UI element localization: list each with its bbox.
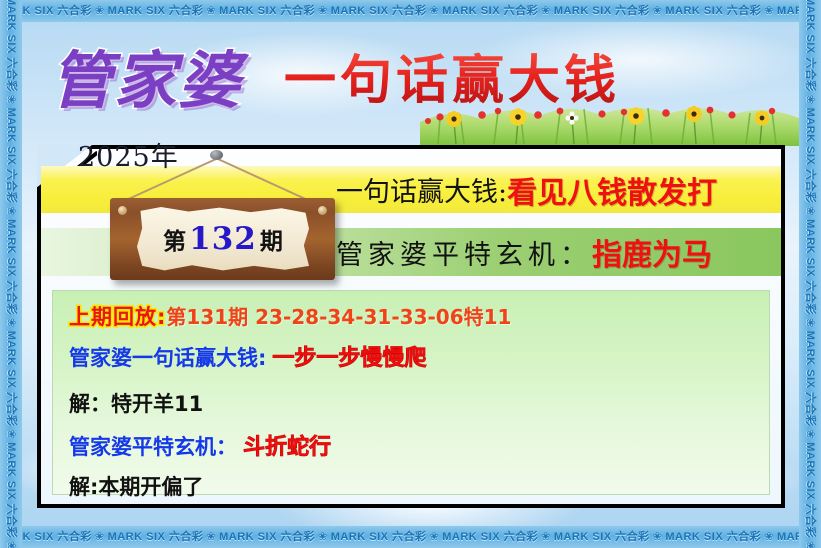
content-label-3: 解:本期开偏了 [69,471,203,501]
paper-label: 第132期 [137,207,309,271]
content-label-0: 管家婆一句话赢大钱: [69,342,266,372]
flower-grass-decoration [420,88,799,146]
content-box: 上期回放: 第131期 23-28-34-31-33-06特11 管家婆一句话赢… [52,290,770,495]
issue-plaque: 第132期 [100,150,350,290]
border-top: MARK SIX 六合彩❀MARK SIX 六合彩❀MARK SIX 六合彩❀M… [0,0,821,22]
border-right: MARK SIX 六合彩❀MARK SIX 六合彩❀MARK SIX 六合彩❀M… [799,0,821,548]
wooden-board: 第132期 [110,198,335,280]
border-strip-bottom: MARK SIX 六合彩❀MARK SIX 六合彩❀MARK SIX 六合彩❀M… [0,526,821,548]
border-strip-left: MARK SIX 六合彩❀MARK SIX 六合彩❀MARK SIX 六合彩❀M… [0,0,22,548]
border-strip-right: MARK SIX 六合彩❀MARK SIX 六合彩❀MARK SIX 六合彩❀M… [799,0,821,548]
replay-value: 第131期 23-28-34-31-33-06特11 [166,301,511,330]
replay-row: 上期回放: 第131期 23-28-34-31-33-06特11 [69,301,769,331]
issue-number: 132 [186,221,260,257]
content-label-1: 解：特开羊11 [69,388,203,418]
band-answer-0: 看见八钱散发打 [507,168,717,212]
border-left: MARK SIX 六合彩❀MARK SIX 六合彩❀MARK SIX 六合彩❀M… [0,0,22,548]
page-root: 管家婆 一句话赢大钱 2025年 第132期 一句话赢大钱: 看见八钱散发打 管… [0,0,821,548]
nail-icon [210,150,223,160]
content-row-2: 管家婆平特玄机： 斗折蛇行 [69,429,769,461]
band-answer-1: 指鹿为马 [592,230,712,274]
content-row-1: 解：特开羊11 [69,388,769,418]
issue-suffix: 期 [260,228,283,255]
border-strip-top: MARK SIX 六合彩❀MARK SIX 六合彩❀MARK SIX 六合彩❀M… [0,0,821,22]
border-bottom: MARK SIX 六合彩❀MARK SIX 六合彩❀MARK SIX 六合彩❀M… [0,526,821,548]
content-value-0: 一步一步慢慢爬 [272,340,426,372]
content-label-2: 管家婆平特玄机： [69,431,237,461]
brand-title: 管家婆 [50,30,242,120]
band-label-1: 管家婆平特玄机： [336,233,592,272]
content-value-2: 斗折蛇行 [243,429,331,461]
issue-text: 第132期 [163,221,283,257]
issue-prefix: 第 [163,228,186,255]
band-label-0: 一句话赢大钱: [336,170,507,209]
content-row-3: 解:本期开偏了 [69,471,769,501]
replay-label: 上期回放: [69,301,166,331]
content-row-0: 管家婆一句话赢大钱: 一步一步慢慢爬 [69,340,769,372]
